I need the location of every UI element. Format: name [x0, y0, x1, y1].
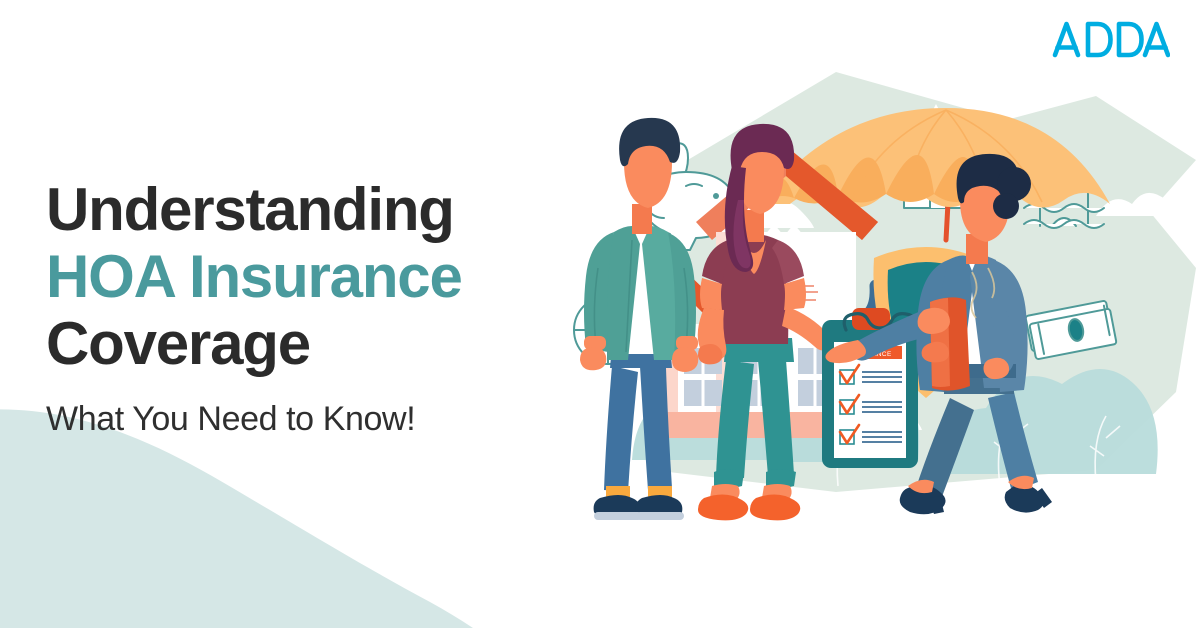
promo-banner: Understanding HOA Insurance Coverage Wha… — [0, 0, 1200, 628]
page-title: Understanding HOA Insurance Coverage — [46, 176, 586, 378]
headline-line-3: Coverage — [46, 310, 586, 377]
headline-line-2: HOA Insurance — [46, 243, 586, 310]
headline-line-1: Understanding — [46, 176, 586, 243]
subtitle: What You Need to Know! — [46, 400, 586, 439]
headline-block: Understanding HOA Insurance Coverage Wha… — [46, 176, 586, 439]
insurance-illustration: 100 — [536, 0, 1200, 628]
